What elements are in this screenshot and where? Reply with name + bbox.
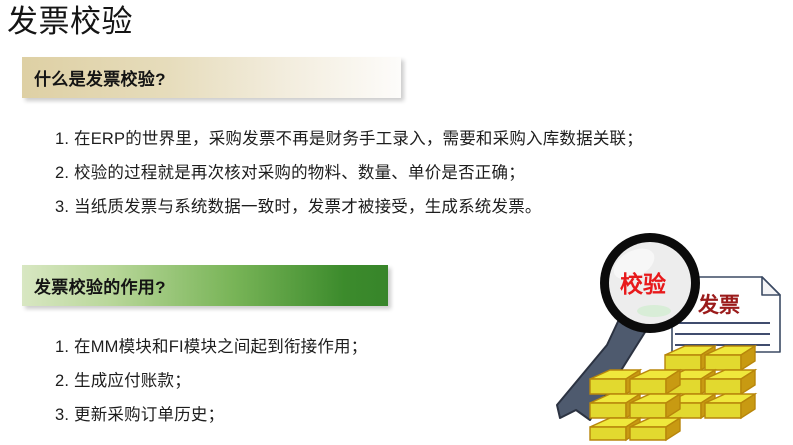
invoice-verification-illustration: 发票 <box>552 228 793 445</box>
list-item-text: 校验的过程就是再次核对采购的物料、数量、单价是否正确； <box>74 164 525 182</box>
list-item-text: 更新采购订单历史； <box>74 406 224 424</box>
list-item-text: 生成应付账款； <box>74 372 191 390</box>
list-role: 1.在MM模块和FI模块之间起到衔接作用； 2.生成应付账款； 3.更新采购订单… <box>55 330 367 432</box>
list-item-number: 3. <box>55 190 74 224</box>
list-item: 1.在MM模块和FI模块之间起到衔接作用； <box>55 330 367 364</box>
list-item-number: 1. <box>55 122 74 156</box>
magnifier-lens-label: 校验 <box>620 271 666 297</box>
list-item: 3.当纸质发票与系统数据一致时，发票才被接受，生成系统发票。 <box>55 190 643 224</box>
section-header-what-is-label: 什么是发票校验? <box>22 65 166 90</box>
page-title: 发票校验 <box>7 0 133 44</box>
list-item-number: 3. <box>55 398 74 432</box>
list-item-text: 在MM模块和FI模块之间起到衔接作用； <box>74 338 367 356</box>
section-header-role: 发票校验的作用? <box>22 265 388 306</box>
list-item: 2.生成应付账款； <box>55 364 367 398</box>
list-item-text: 当纸质发票与系统数据一致时，发票才被接受，生成系统发票。 <box>74 198 542 216</box>
list-item-number: 1. <box>55 330 74 364</box>
list-item: 3.更新采购订单历史； <box>55 398 367 432</box>
magnifier-lens-icon: 校验 <box>600 233 700 333</box>
list-item: 2.校验的过程就是再次核对采购的物料、数量、单价是否正确； <box>55 156 643 190</box>
list-what-is: 1.在ERP的世界里，采购发票不再是财务手工录入，需要和采购入库数据关联； 2.… <box>55 122 643 224</box>
list-item-number: 2. <box>55 364 74 398</box>
invoice-document-label: 发票 <box>697 293 740 317</box>
section-header-what-is: 什么是发票校验? <box>22 57 401 98</box>
list-item-text: 在ERP的世界里，采购发票不再是财务手工录入，需要和采购入库数据关联； <box>74 130 643 148</box>
list-item: 1.在ERP的世界里，采购发票不再是财务手工录入，需要和采购入库数据关联； <box>55 122 643 156</box>
section-header-role-label: 发票校验的作用? <box>22 273 166 298</box>
list-item-number: 2. <box>55 156 74 190</box>
